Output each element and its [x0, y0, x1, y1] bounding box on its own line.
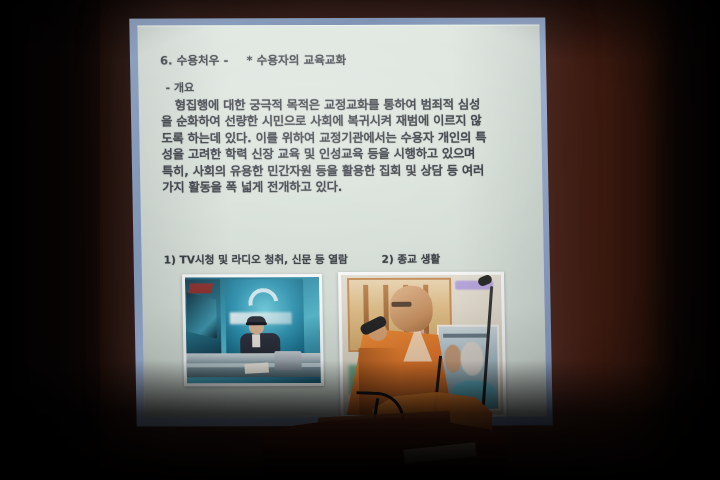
slide-title-number: 6. 수용처우: [160, 53, 220, 67]
slide-title: 6. 수용처우 - * 수용자의 교육교화: [160, 52, 524, 69]
anchor-shirt: [252, 334, 260, 347]
photo-caption-1: 1) TV시청 및 라디오 청취, 신문 등 열람: [164, 254, 348, 266]
slide-title-topic: * 수용자의 교육교화: [232, 53, 346, 67]
window-frame-bar: [443, 333, 489, 337]
auditorium-scene: 6. 수용처우 - * 수용자의 교육교화 - 개요 형집행에 대한 궁극적 목…: [0, 0, 720, 480]
paragraph-line: 도록 하는데 있다. 이를 위하여 교정기관에서는 수용자 개인의 특: [161, 129, 525, 146]
paragraph-line: 을 순화하여 선량한 시민으로 사회에 복귀시켜 재범에 이르지 않: [161, 113, 525, 130]
paragraph-line: 성을 고려한 학력 신장 교육 및 인성교육 등을 시행하고 있으며: [162, 146, 526, 163]
monk-glasses: [391, 301, 412, 307]
studio-red-accent: [188, 284, 213, 294]
slide-title-dash: -: [223, 53, 228, 67]
paragraph-line: 가지 활동을 폭 넓게 전개하고 있다.: [162, 179, 526, 196]
studio-diagonal-panel: [187, 292, 217, 339]
monk-head: [389, 286, 433, 332]
photo-caption-2: 2) 종교 생활: [351, 254, 440, 266]
anchor-cap-brim: [246, 322, 267, 325]
photo-captions: 1) TV시청 및 라디오 청취, 신문 등 열람 2) 종교 생활: [164, 251, 536, 267]
slide-paragraph: 형집행에 대한 궁극적 목적은 교정교화를 통하여 범죄적 심성 을 순화하여 …: [161, 97, 527, 196]
paragraph-line: 특히, 사회의 유용한 민간자원 등을 활용한 집회 및 상담 등 여러: [162, 162, 526, 179]
slide-subheading: - 개요: [160, 79, 524, 96]
foreground-darkness: [0, 360, 720, 480]
paragraph-line: 형집행에 대한 궁극적 목적은 교정교화를 통하여 범죄적 심성: [161, 97, 525, 114]
